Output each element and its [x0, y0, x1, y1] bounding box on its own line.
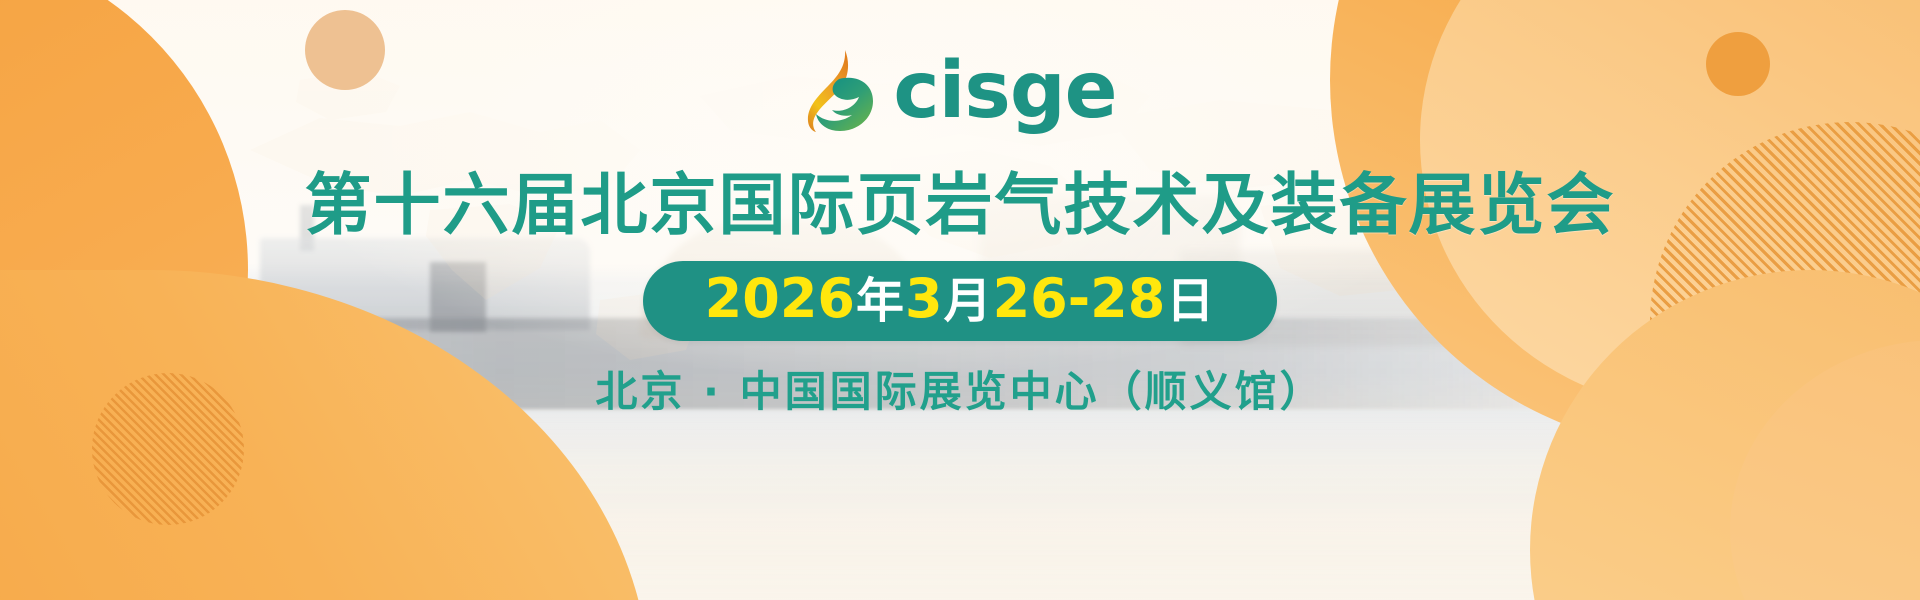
event-date-badge: 2026 年 3 月 26-28 日	[643, 261, 1278, 341]
date-day-label: 日	[1165, 277, 1215, 325]
date-days: 26-28	[993, 272, 1166, 326]
date-month: 3	[905, 272, 943, 326]
logo-lockup: cisge	[803, 48, 1116, 134]
banner-content: cisge 第十六届北京国际页岩气技术及装备展览会 2026 年 3 月 26-…	[0, 0, 1920, 600]
cisge-flame-leaf-icon	[803, 49, 879, 133]
date-month-label: 月	[943, 277, 993, 325]
event-banner: cisge 第十六届北京国际页岩气技术及装备展览会 2026 年 3 月 26-…	[0, 0, 1920, 600]
event-title: 第十六届北京国际页岩气技术及装备展览会	[305, 172, 1616, 239]
logo-wordmark: cisge	[893, 54, 1116, 128]
date-year: 2026	[705, 272, 855, 326]
date-year-label: 年	[855, 277, 905, 325]
event-venue: 北京 · 中国国际展览中心（顺义馆）	[595, 371, 1324, 413]
